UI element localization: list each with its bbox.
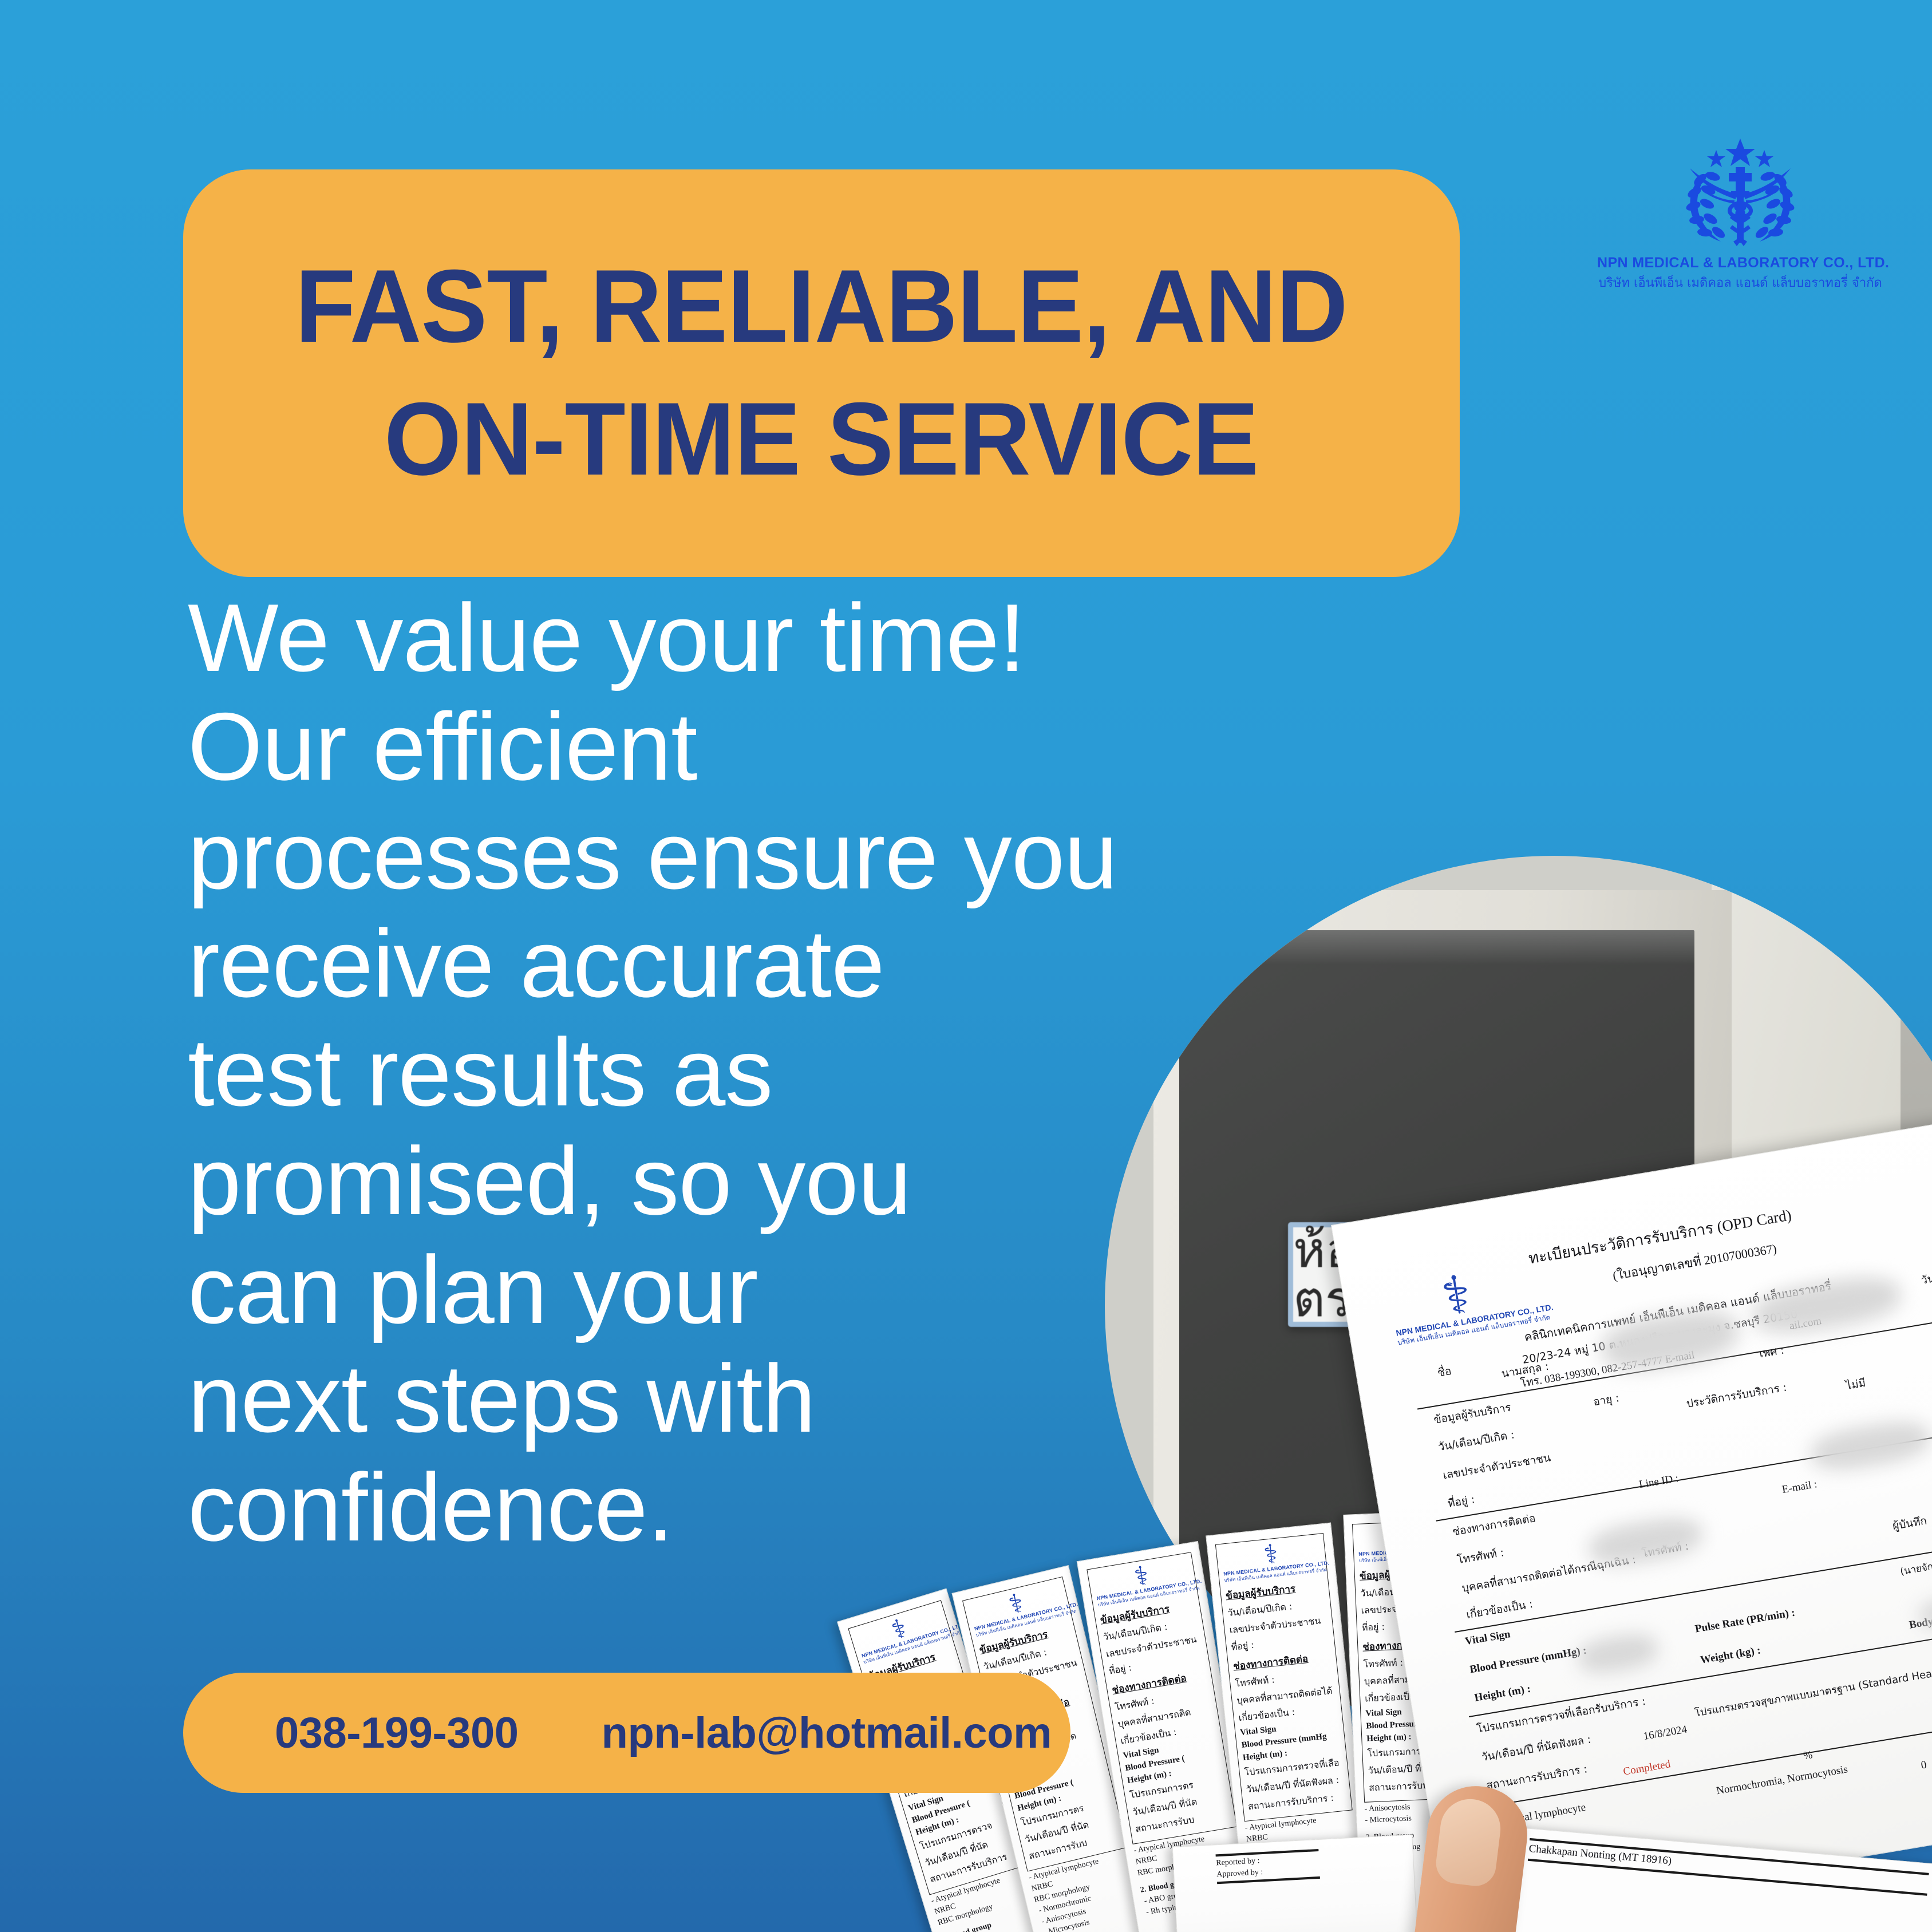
field-height: Height (m) : (1473, 1683, 1531, 1705)
opd-card-footer-sheet: Reported by : Approved by : (1172, 1834, 1420, 1932)
field-weight: Weight (kg) : (1700, 1644, 1762, 1666)
signature-block: ผู้บันทึก (นายจักรพันธ์ โนนทิง) (1891, 1487, 1932, 1579)
field-status: สถานะการรับบริการ : (1485, 1760, 1589, 1794)
field-telephone: โทรศัพท์ : (1456, 1544, 1505, 1568)
contact-email[interactable]: npn-lab@hotmail.com (602, 1708, 1052, 1758)
signature-label: ผู้บันทึก (1891, 1514, 1927, 1532)
field-service-date: วันที่รับบริการ : (1920, 1261, 1932, 1289)
caduceus-laurel-icon (1597, 135, 1883, 251)
field-address: ที่อยู่ : (1447, 1491, 1476, 1512)
field-line-id: Line ID : (1638, 1472, 1680, 1491)
brand-logo: NPN MEDICAL & LABORATORY CO., LTD. บริษั… (1597, 135, 1883, 293)
opd-card-logo: ⚕ NPN MEDICAL & LABORATORY CO., LTD. บริ… (1388, 1263, 1529, 1349)
lab-result-morphology: Normochromia, Normocytosis (1716, 1763, 1849, 1797)
field-section-contact: ช่องทางการติดต่อ (1451, 1510, 1537, 1540)
contact-phone[interactable]: 038-199-300 (275, 1708, 519, 1758)
field-age: อายุ : (1592, 1389, 1621, 1411)
body-copy: We value your time! Our efficient proces… (188, 584, 1378, 1562)
lab-result-nrbc: 0 (1920, 1759, 1927, 1772)
headline-badge: FAST, RELIABLE, AND ON-TIME SERVICE (183, 169, 1460, 577)
headline-line-2: ON-TIME SERVICE (384, 381, 1258, 497)
field-dob: วัน/เดือน/ปีเกิด : (1437, 1426, 1516, 1456)
value-history: ไม่มี (1844, 1374, 1867, 1394)
brand-name-th: บริษัท เอ็นพีเอ็น เมดิคอล แอนด์ แล็บบอรา… (1597, 272, 1883, 293)
field-appointment-date: วัน/เดือน/ปี ที่นัดฟังผล : (1480, 1731, 1593, 1767)
contact-bar: 038-199-300 npn-lab@hotmail.com (183, 1673, 1070, 1793)
field-sex: เพศ : (1758, 1342, 1785, 1363)
headline-line-1: FAST, RELIABLE, AND (295, 248, 1348, 364)
field-fullname: ชื่อ (1436, 1362, 1453, 1382)
promo-poster: ห้องตรวจ ⚕ NPN MEDICAL & LABORATORY CO.,… (0, 0, 1932, 1932)
status-badge: Completed (1622, 1758, 1672, 1778)
page-title: FAST, RELIABLE, AND ON-TIME SERVICE (295, 240, 1348, 505)
field-email: E-mail : (1781, 1478, 1818, 1496)
lab-result-percent: % (1803, 1749, 1814, 1763)
field-pulse-rate: Pulse Rate (PR/min) : (1694, 1607, 1796, 1636)
field-blood-pressure: Blood Pressure (mmHg) : (1469, 1645, 1587, 1677)
signature-name: (นายจักรพันธ์ โนนทิง) (1899, 1533, 1932, 1579)
section-vital-sign: Vital Sign (1464, 1628, 1512, 1648)
field-citizen-id: เลขประจำตัวประชาชน (1441, 1449, 1552, 1484)
field-history: ประวัติการรับบริการ : (1685, 1379, 1788, 1413)
brand-name-en: NPN MEDICAL & LABORATORY CO., LTD. (1597, 255, 1883, 271)
value-appointment-date: 16/8/2024 (1642, 1724, 1688, 1743)
thumbnail-icon (1434, 1796, 1504, 1888)
